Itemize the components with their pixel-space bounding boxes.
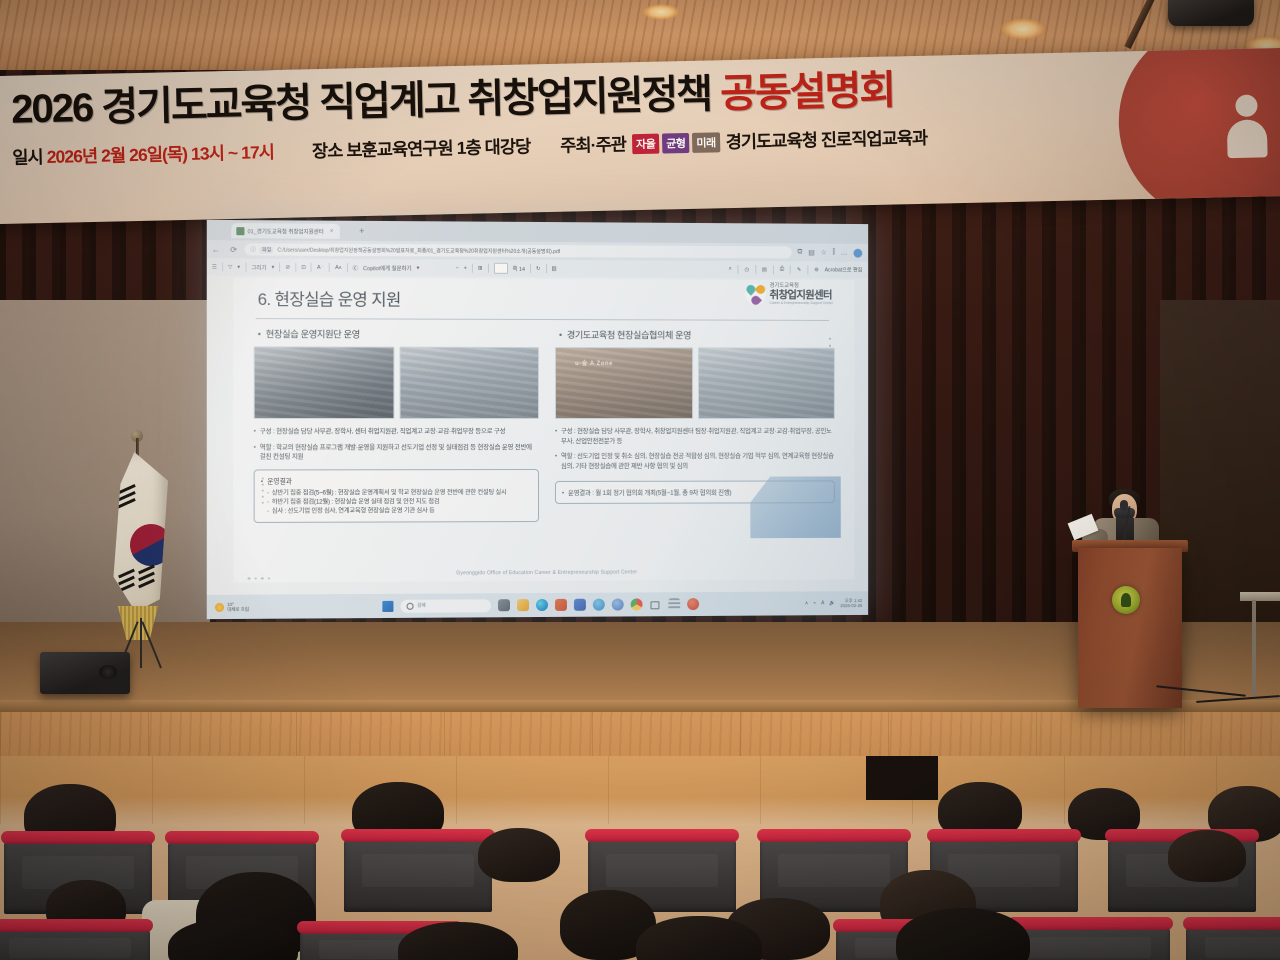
url-file-tag: 파일 (260, 246, 273, 253)
text-size-icon[interactable]: Aᴀ (335, 264, 341, 270)
copilot-label[interactable]: Copilot에게 질문하기 (363, 264, 411, 272)
start-icon[interactable] (382, 600, 393, 611)
powerpoint-icon[interactable] (554, 599, 566, 611)
banner-host-label: 주최·주관 (560, 131, 626, 157)
browser-actions[interactable]: ⧉ ▤ ☆ ⫿ … (797, 248, 868, 257)
refresh-icon[interactable]: ⟳ (230, 245, 237, 254)
pdf-slide-page: 6. 현장실습 운영 지원 경기도교육청 취창업지원센터 Career & En… (233, 278, 854, 583)
right-decor-dots (829, 338, 831, 361)
favorite-icon[interactable]: ☆ (821, 249, 827, 257)
weather-desc: 대체로 흐림 (227, 607, 249, 612)
logo-line2: 취창업지원센터 (770, 290, 833, 301)
address-bar[interactable]: ⓘ 파일 C:/Users/user/Desktop/취창업지원정책공동설명회%… (244, 243, 791, 258)
show-hidden-icons-icon[interactable]: ∧ (805, 600, 809, 606)
podium-emblem-icon (1112, 586, 1140, 614)
audience-seat (344, 838, 492, 912)
photo-zone-label: u-숲 A Zone (575, 358, 613, 367)
acrobat-edit-label[interactable]: Acrobat으로 편집 (825, 266, 863, 273)
pen-icon[interactable]: ✎ (797, 267, 801, 273)
right-photos: u-숲 A Zone (555, 347, 835, 419)
right-bullet-2: 역할 : 선도기업 인정 및 취소 심의, 현장실습 전공 적합성 심의, 현장… (561, 452, 835, 471)
korean-flag (110, 452, 168, 612)
network-icon[interactable]: ⌁ (813, 600, 816, 606)
search-placeholder: 검색 (417, 603, 426, 609)
erase-icon[interactable]: ⊘ (285, 264, 290, 270)
bullet-item: •역할 : 선도기업 인정 및 취소 심의, 현장실습 전공 적합성 심의, 현… (555, 452, 835, 472)
chip-gyunhyeong: 균형 (662, 132, 690, 153)
settings-icon[interactable]: ⚙ (814, 267, 819, 273)
print-icon[interactable]: ⎙ (780, 266, 784, 273)
edge-icon[interactable] (536, 599, 548, 611)
search-icon (406, 602, 413, 609)
zoom-out-button[interactable]: − (456, 265, 459, 271)
extensions-icon[interactable]: ⧉ (797, 248, 802, 256)
more-icon[interactable]: … (841, 249, 848, 256)
chip-jayul: 자율 (632, 133, 660, 154)
search-input[interactable]: 검색 (400, 599, 490, 613)
banner-place-label: 장소 (312, 138, 343, 164)
zoom-in-button[interactable]: + (464, 265, 467, 271)
logo-mark-icon (745, 284, 766, 305)
bullet-item: •구성 : 현장실습 담당 사무관, 장학사, 센터 취업지원관, 직업계고 교… (254, 427, 539, 437)
left-photos (254, 346, 539, 419)
right-bullet-1: 구성 : 현장실습 담당 사무관, 장학사, 취창업지원센터 팀장·취업지원관,… (561, 427, 835, 446)
page-number-input[interactable] (494, 263, 508, 274)
banner-place-value: 보훈교육연구원 1층 대강당 (346, 133, 530, 162)
clock[interactable]: 오후 1:42 2026-02-26 (840, 598, 862, 609)
clock-icon[interactable]: ◷ (744, 267, 749, 273)
ceiling-projector (1168, 0, 1254, 26)
teams-icon[interactable] (611, 599, 623, 611)
auditorium-scene: 2026 경기도교육청 직업계고 취창업지원정책 공동설명회 일시 2026년 … (0, 0, 1280, 960)
audience-head (1168, 830, 1246, 882)
weather-widget[interactable]: 10° 대체로 흐림 (215, 601, 249, 612)
cafe-meeting-photo: u-숲 A Zone (555, 347, 693, 419)
korean-flag-stand (100, 438, 180, 668)
projection-screen: 01_경기도교육청 취창업지원센터 × + − □ × ← ⟳ ⓘ 파일 C:/… (207, 220, 868, 619)
clock-date: 2026-02-26 (840, 603, 862, 608)
add-text-icon[interactable]: ⊡ (301, 264, 306, 270)
pdf-toolbar: ☰ ▽ ▾ 그리기 ▾ ⊘ ⊡ A᛫ Aᴀ Ⓒ (207, 258, 868, 278)
draw-dropdown-icon[interactable]: ▾ (272, 264, 275, 270)
file-explorer-icon[interactable] (497, 599, 509, 611)
corner-graphic (750, 476, 840, 538)
split-screen-icon[interactable]: ⫿ (833, 249, 835, 257)
audience-seat (1010, 926, 1170, 960)
ceiling-light (642, 4, 680, 20)
rotate-icon[interactable]: ↻ (536, 265, 541, 271)
banner-title-part1: 2026 경기도교육청 직업계고 (11, 78, 468, 132)
logo-line3: Career & Entrepreneurship Support Center (770, 301, 833, 305)
clock-time: 오후 1:42 (845, 598, 862, 603)
url-text: C:/Users/user/Desktop/취창업지원정책공동설명회%20발표자… (277, 246, 560, 255)
draw-tool-label[interactable]: 그리기 (251, 263, 266, 271)
volume-icon[interactable]: 🔊 (829, 600, 835, 606)
microphone-icon (1120, 500, 1128, 511)
slide-footer: Gyeonggido Office of Education Career & … (233, 568, 854, 577)
weather-sun-icon (215, 602, 224, 611)
search-icon[interactable]: ⌕ (729, 266, 732, 273)
page-total-label: 쪽 14 (513, 264, 525, 272)
windows-taskbar: 10° 대체로 흐림 검색 (207, 591, 868, 619)
left-bullet-2: 역할 : 학교의 현장실습 프로그램 개발·운영을 지원하고 선도기업 선정 및… (260, 443, 539, 463)
highlight-dropdown-icon[interactable]: ▾ (237, 264, 240, 270)
pdf-toolbar-right: ⌕ ◷ ▤ ⎙ ✎ ⚙ Acrobat으로 편집 (729, 265, 868, 275)
chrome-icon[interactable] (630, 598, 642, 610)
event-banner: 2026 경기도교육청 직업계고 취창업지원정책 공동설명회 일시 2026년 … (0, 48, 1280, 224)
banner-date-label: 일시 (12, 144, 43, 170)
banner-title-highlight: 공동설명회 (720, 68, 895, 116)
korean-input-icon[interactable]: A (821, 600, 824, 606)
new-tab-icon[interactable]: + (359, 226, 364, 236)
left-column-heading: 현장실습 운영지원단 운영 (258, 326, 539, 341)
info-icon: ⓘ (250, 245, 256, 253)
left-bullet-1: 구성 : 현장실습 담당 사무관, 장학사, 센터 취업지원관, 직업계고 교장… (260, 427, 539, 437)
ceiling-light (1000, 18, 1046, 40)
close-tab-icon[interactable]: × (330, 228, 334, 234)
collections-icon[interactable]: ▤ (808, 248, 815, 256)
screen-share-icon[interactable] (649, 598, 661, 610)
right-column-heading: 경기도교육청 현장실습협의체 운영 (559, 327, 835, 342)
banner-host-value: 경기도교육청 진로직업교육과 (725, 125, 927, 154)
audience-seat (0, 928, 150, 960)
system-tray: ∧ ⌁ A 🔊 오후 1:42 2026-02-26 (805, 598, 863, 609)
slide-right-column: 경기도교육청 현장실습협의체 운영 u-숲 A Zone •구성 : 현장실습 … (555, 327, 835, 559)
side-table (1240, 592, 1280, 601)
note-icon[interactable]: ▤ (762, 267, 767, 273)
toc-icon[interactable]: ☰ (212, 264, 217, 270)
presentation-room-photo (399, 347, 539, 419)
left-bullets: •구성 : 현장실습 담당 사무관, 장학사, 센터 취업지원관, 직업계고 교… (254, 427, 539, 462)
banner-date-value: 2026년 2월 26일(목) 13시 ~ 17시 (46, 139, 274, 169)
acrobat-icon[interactable] (687, 598, 699, 610)
bullet-item: •역할 : 학교의 현장실습 프로그램 개발·운영을 지원하고 선도기업 선정 … (254, 443, 539, 463)
slide-columns: 현장실습 운영지원단 운영 •구성 : 현장실습 담당 사무관, 장학사, 센터… (254, 326, 835, 560)
audience-head (478, 828, 560, 882)
right-bullets: •구성 : 현장실습 담당 사무관, 장학사, 취창업지원센터 팀장·취업지원관… (555, 427, 835, 471)
highlight-icon[interactable]: ▽ (228, 264, 232, 270)
taskbar-icons: 검색 (382, 598, 699, 613)
left-result-title: 운영결과 (261, 475, 532, 486)
projector-arm (1124, 0, 1158, 49)
banner-host-chips: 자율 균형 미래 (632, 132, 720, 154)
read-aloud-icon[interactable]: A᛫ (317, 264, 324, 270)
folder-icon[interactable] (517, 599, 529, 611)
wall-display-panel (866, 756, 938, 800)
bullet-item: •구성 : 현장실습 담당 사무관, 장학사, 취창업지원센터 팀장·취업지원관… (555, 427, 835, 446)
banner-title: 2026 경기도교육청 직업계고 취창업지원정책 공동설명회 (11, 62, 1263, 129)
pdf-file-icon (236, 227, 244, 235)
browser-tab[interactable]: 01_경기도교육청 취창업지원센터 × (231, 223, 340, 239)
left-result-item-1: 상반기 집중 점검(5~6월) : 현장실습 운영계획서 및 학교 현장실습 운… (261, 488, 532, 498)
center-logo: 경기도교육청 취창업지원센터 Career & Entrepreneurship… (745, 284, 833, 305)
slide-left-column: 현장실습 운영지원단 운영 •구성 : 현장실습 담당 사무관, 장학사, 센터… (254, 326, 539, 560)
left-decor-dots (262, 478, 264, 504)
weather-temp: 10° (227, 601, 234, 606)
stack-icon[interactable] (668, 598, 680, 610)
back-arrow-icon[interactable]: ← (212, 245, 220, 254)
slide-title: 6. 현장실습 운영 지원 (258, 286, 401, 311)
stage-cables (1156, 676, 1280, 706)
page-layout-icon[interactable]: ▥ (552, 266, 557, 272)
slide-header: 6. 현장실습 운영 지원 경기도교육청 취창업지원센터 Career & En… (233, 278, 854, 324)
left-result-item-3: 심사 : 선도기업 인정 심사, 연계교육형 현장실습 운영 기관 심사 등 (261, 506, 532, 516)
browser-tab-title: 01_경기도교육청 취창업지원센터 (248, 227, 324, 236)
audience-seat (1186, 926, 1280, 960)
copilot-dropdown-icon[interactable]: ▾ (417, 265, 420, 271)
word-icon[interactable] (573, 599, 585, 611)
stage-floor-monitor (40, 652, 130, 694)
fit-page-icon[interactable]: ⊞ (478, 265, 483, 271)
profile-avatar[interactable] (853, 248, 862, 257)
workshop-meeting-photo (254, 346, 395, 419)
banner-title-part2: 취창업지원정책 (467, 72, 721, 122)
conference-table-photo (698, 347, 835, 419)
left-result-box: 운영결과 상반기 집중 점검(5~6월) : 현장실습 운영계획서 및 학교 현… (254, 469, 539, 523)
mail-icon[interactable] (592, 599, 604, 611)
slide-divider (256, 318, 829, 321)
copilot-icon[interactable]: Ⓒ (353, 264, 358, 272)
chip-mirae: 미래 (692, 132, 720, 153)
